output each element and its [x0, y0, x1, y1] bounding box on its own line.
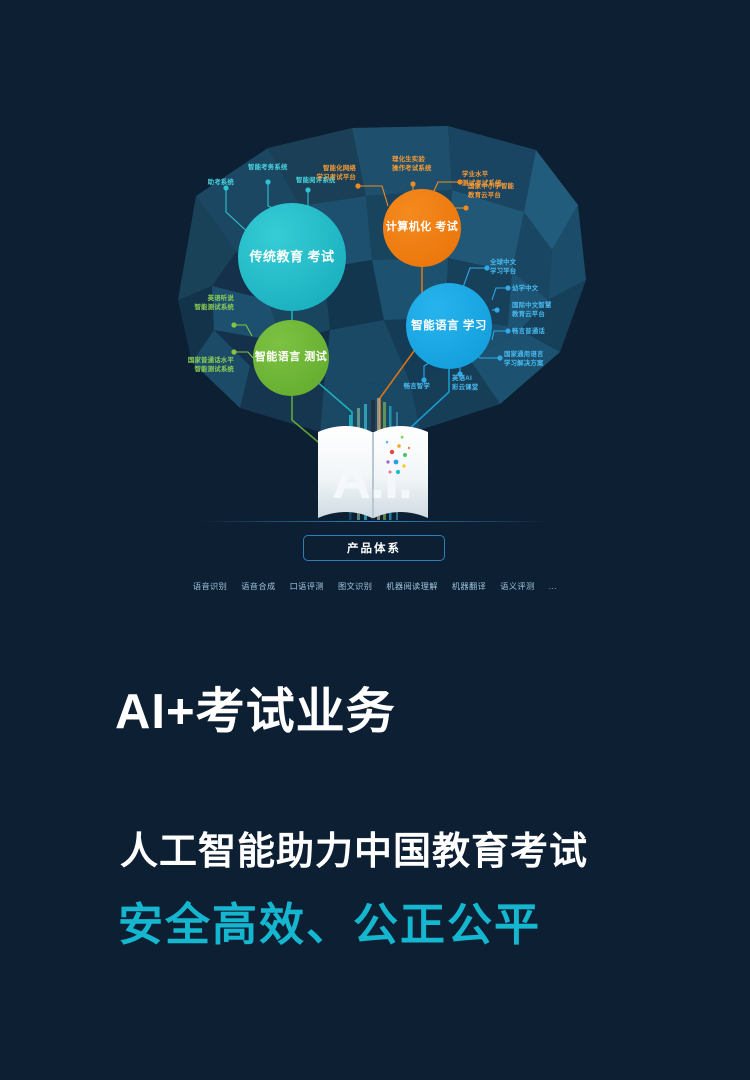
tag-item[interactable]: 机器阅读理解: [386, 580, 438, 592]
node-label: 计算机化 考试: [386, 221, 459, 235]
leaf-label-language-testing-0[interactable]: 英语听说 智能测试系统: [174, 294, 234, 313]
leaf-label-language-learning-1[interactable]: 幼学中文: [512, 284, 566, 293]
hero-illustration: A.I. 传统教育 考试 计算机化 考试 智能语言: [0, 0, 750, 630]
leaf-label-language-testing-1[interactable]: 国家普通话水平 智能测试系统: [168, 356, 234, 375]
leaf-label-computerized-0[interactable]: 智能化网络 学习考试平台: [296, 164, 356, 183]
leaf-label-computerized-3[interactable]: 国家中小学智能 教育云平台: [468, 182, 534, 201]
leaf-label-language-learning-4[interactable]: 国家通用语言 学习解决方案: [504, 350, 564, 369]
tag-item[interactable]: 图文识别: [338, 580, 372, 592]
leaf-label-language-learning-5[interactable]: 英语AI 彩云课堂: [452, 374, 500, 393]
leaf-label-traditional-0[interactable]: 助考系统: [188, 178, 234, 187]
tag-item[interactable]: 语音识别: [193, 580, 227, 592]
node-intelligent-language-learning[interactable]: 智能语言 学习: [406, 283, 492, 369]
subtitle-primary: 人工智能助力中国教育考试: [120, 820, 588, 875]
page-title: AI+考试业务: [115, 672, 396, 743]
leaf-label-language-learning-3[interactable]: 畅言普通话: [512, 327, 570, 336]
hero-divider: [198, 521, 550, 522]
ai-logo-text: A.I.: [332, 450, 412, 510]
leaf-label-language-learning-0[interactable]: 全球中文 学习平台: [490, 258, 544, 277]
capability-tag-list: 语音识别 语音合成 口语评测 图文识别 机器阅读理解 机器翻译 语义评测 …: [0, 580, 750, 592]
tag-item: …: [549, 582, 558, 591]
leaf-label-language-learning-6[interactable]: 畅言智学: [388, 382, 430, 391]
leaf-label-language-learning-2[interactable]: 国际中文智慧 教育云平台: [512, 301, 572, 320]
node-label: 智能语言 学习: [411, 319, 487, 333]
node-computerized-exam[interactable]: 计算机化 考试: [383, 189, 461, 267]
product-system-label: 产品体系: [347, 540, 401, 556]
product-system-pill[interactable]: 产品体系: [303, 535, 445, 561]
subtitle-accent: 安全高效、公正公平: [118, 888, 541, 953]
tag-item[interactable]: 口语评测: [290, 580, 324, 592]
brain-polygons: [178, 126, 586, 432]
page-root: A.I. 传统教育 考试 计算机化 考试 智能语言: [0, 0, 750, 1080]
node-intelligent-language-testing[interactable]: 智能语言 测试: [253, 320, 329, 396]
leaf-label-computerized-1[interactable]: 理化生实验 操作考试系统: [392, 155, 458, 174]
tag-item[interactable]: 机器翻译: [452, 580, 486, 592]
tag-item[interactable]: 语音合成: [241, 580, 275, 592]
node-label: 传统教育 考试: [249, 249, 334, 265]
tag-item[interactable]: 语义评测: [500, 580, 534, 592]
node-traditional-education-exam[interactable]: 传统教育 考试: [238, 203, 346, 311]
node-label: 智能语言 测试: [255, 351, 328, 365]
